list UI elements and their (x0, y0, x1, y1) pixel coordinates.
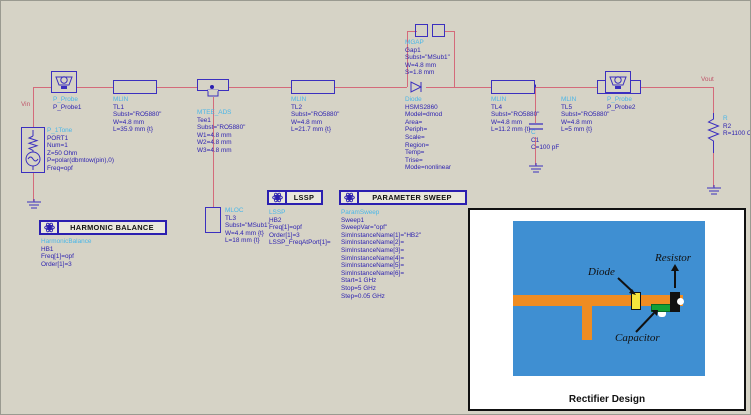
r2-label: R R2 R=1100 Ohm {t} (723, 115, 751, 138)
tl2-symbol[interactable] (291, 80, 335, 94)
port1-label: P_1Tone PORT1 Num=1 Z=50 Ohm P=polar(dbm… (47, 127, 114, 173)
diode-label: Diode HSMS2860 Model=dmod Area= Periph= … (405, 96, 451, 172)
parameter-sweep-caption: PARAMETER SWEEP (359, 193, 465, 202)
inset-title: Rectifier Design (470, 394, 744, 405)
wire-segment (33, 173, 34, 201)
simulation-icon (41, 222, 59, 233)
wire-segment (641, 87, 713, 88)
lssp-params: LSSP HB2 Freq[1]=opf Order[1]=3 LSSP_Fre… (269, 209, 331, 247)
gap1-symbol[interactable] (415, 24, 445, 38)
wire-segment (33, 87, 51, 88)
wire-segment (713, 153, 714, 187)
tl4-symbol[interactable] (491, 80, 535, 94)
parameter-sweep-params: ParamSweep Sweep1 SweepVar="opf" SimInst… (341, 209, 421, 300)
wire-segment (713, 87, 714, 115)
inset-annotation-capacitor: Capacitor (615, 332, 660, 344)
inset-annotation-resistor: Resistor (655, 252, 691, 264)
tl1-label: MLIN TL1 Subst="RO5880" W=4.8 mm L=35.9 … (113, 96, 161, 134)
wire-segment (33, 87, 34, 127)
diode-symbol[interactable] (407, 80, 427, 94)
port1-symbol[interactable] (21, 127, 45, 173)
tl1-symbol[interactable] (113, 80, 157, 94)
p-probe1-symbol[interactable] (51, 71, 77, 93)
rectifier-design-inset: Diode Resistor Capacitor Rectifier Desig… (468, 208, 746, 411)
wire-segment (335, 87, 407, 88)
parameter-sweep-controller[interactable]: PARAMETER SWEEP (339, 190, 467, 205)
net-label-vout: Vout (701, 76, 714, 83)
ground-symbol (527, 163, 545, 175)
wire-segment (157, 87, 197, 88)
tl3-symbol[interactable] (205, 207, 221, 233)
wire-segment (229, 87, 291, 88)
r2-symbol[interactable] (706, 113, 722, 155)
tl5-label: MLIN TL5 Subst="RO5880" W=4.8 mm L=5 mm … (561, 96, 609, 134)
p-probe2-symbol[interactable] (605, 71, 631, 93)
lssp-caption: LSSP (287, 193, 321, 202)
p-probe1-label: P_Probe P_Probe1 (53, 96, 81, 111)
wire-segment (426, 87, 491, 88)
ground-symbol (25, 199, 43, 211)
simulation-icon (269, 192, 287, 203)
inset-annotation-diode: Diode (588, 266, 615, 278)
inset-arrows (470, 210, 748, 413)
tee1-symbol[interactable] (197, 79, 229, 95)
gap1-label: MGAP Gap1 Subst="MSub1" W=4.8 mm S=1.8 m… (405, 39, 450, 77)
simulation-icon (341, 192, 359, 203)
harmonic-balance-params: HarmonicBalance HB1 Freq[1]=opf Order[1]… (41, 238, 91, 268)
tl2-label: MLIN TL2 Subst="RO5880" W=4.8 mm L=21.7 … (291, 96, 339, 134)
c1-label: C C1 C=100 pF (531, 129, 559, 152)
p-probe2-label: P_Probe P_Probe2 (607, 96, 635, 111)
wire-segment (444, 31, 454, 32)
tl3-label: MLOC TL3 Subst="MSub1" W=4.4 mm {t} L=18… (225, 207, 270, 245)
net-label-vin: Vin (21, 101, 30, 108)
harmonic-balance-controller[interactable]: HARMONIC BALANCE (39, 220, 167, 235)
ground-symbol (705, 185, 723, 197)
lssp-controller[interactable]: LSSP (267, 190, 323, 205)
wire-segment (535, 87, 597, 88)
harmonic-balance-caption: HARMONIC BALANCE (59, 223, 165, 232)
tee1-label: MTEE_ADS Tee1 Subst="RO5880" W1=4.8 mm W… (197, 109, 245, 155)
wire-segment (454, 31, 455, 87)
wire-segment (77, 87, 113, 88)
schematic-canvas[interactable]: P_Probe P_Probe1 Vin P_1Tone PORT1 Num=1… (0, 0, 751, 415)
